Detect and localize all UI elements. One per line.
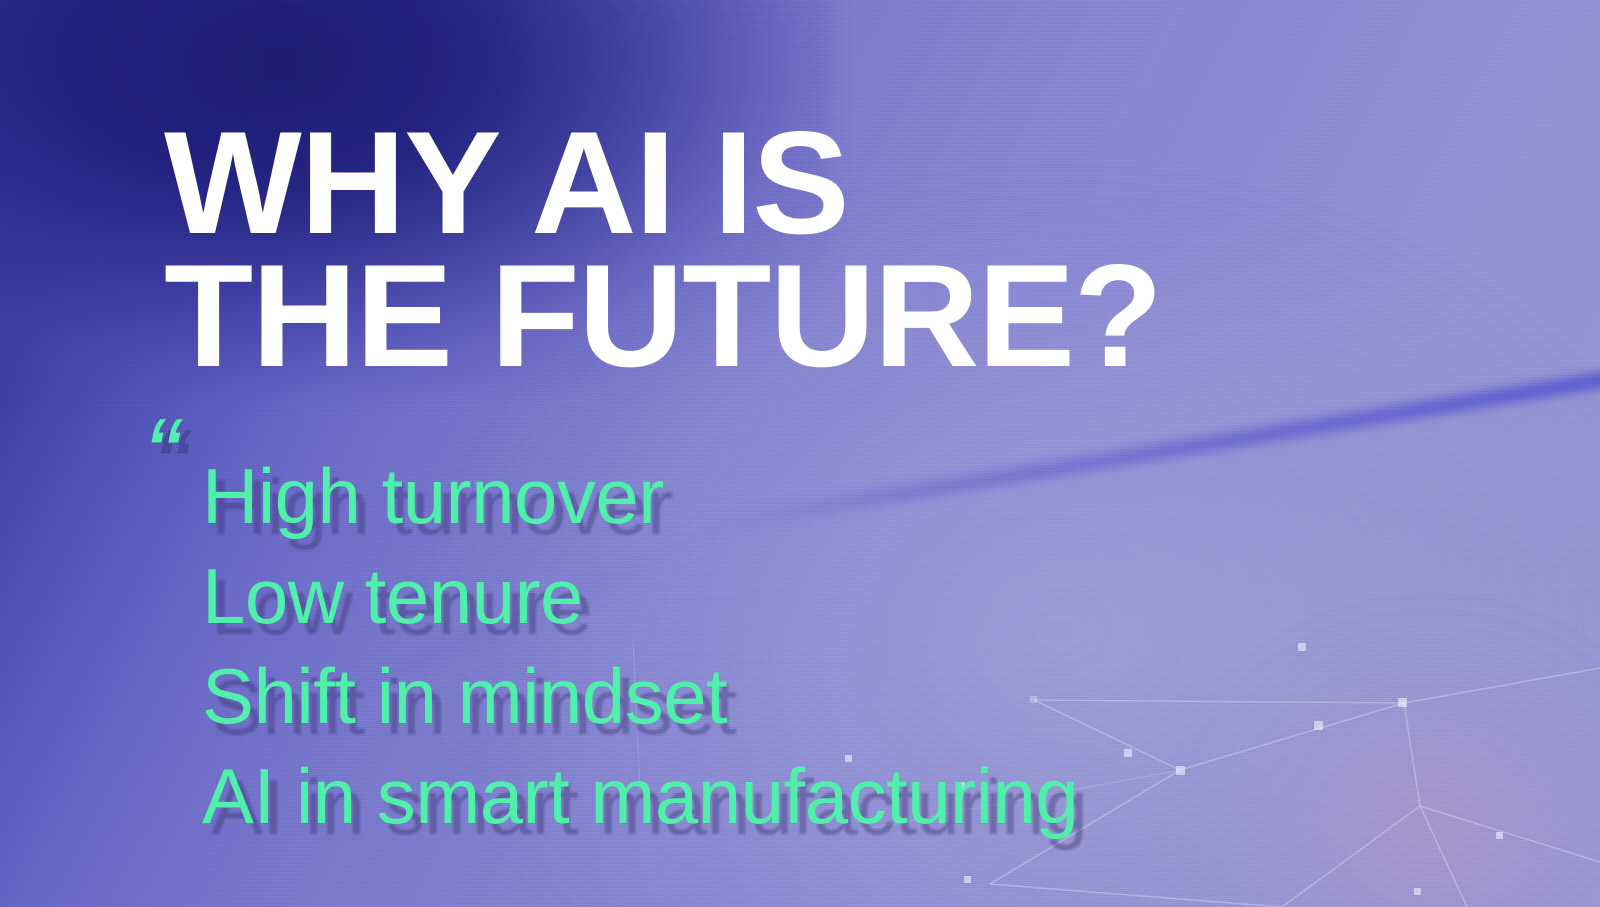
quote-line: High turnover <box>202 446 1078 546</box>
left-double-quotation-mark-icon: “ <box>144 404 175 508</box>
quote-line: Shift in mindset <box>202 646 1078 746</box>
quote-line-list: High turnover Low tenure Shift in mindse… <box>202 446 1078 846</box>
page-title: WHY AI IS THE FUTURE? <box>164 116 1264 382</box>
quote-line: AI in smart manufacturing <box>202 746 1078 846</box>
quote-line: Low tenure <box>202 546 1078 646</box>
slide-canvas: WHY AI IS THE FUTURE? “ High turnover Lo… <box>0 0 1600 907</box>
slide-content: WHY AI IS THE FUTURE? “ High turnover Lo… <box>0 0 1600 907</box>
